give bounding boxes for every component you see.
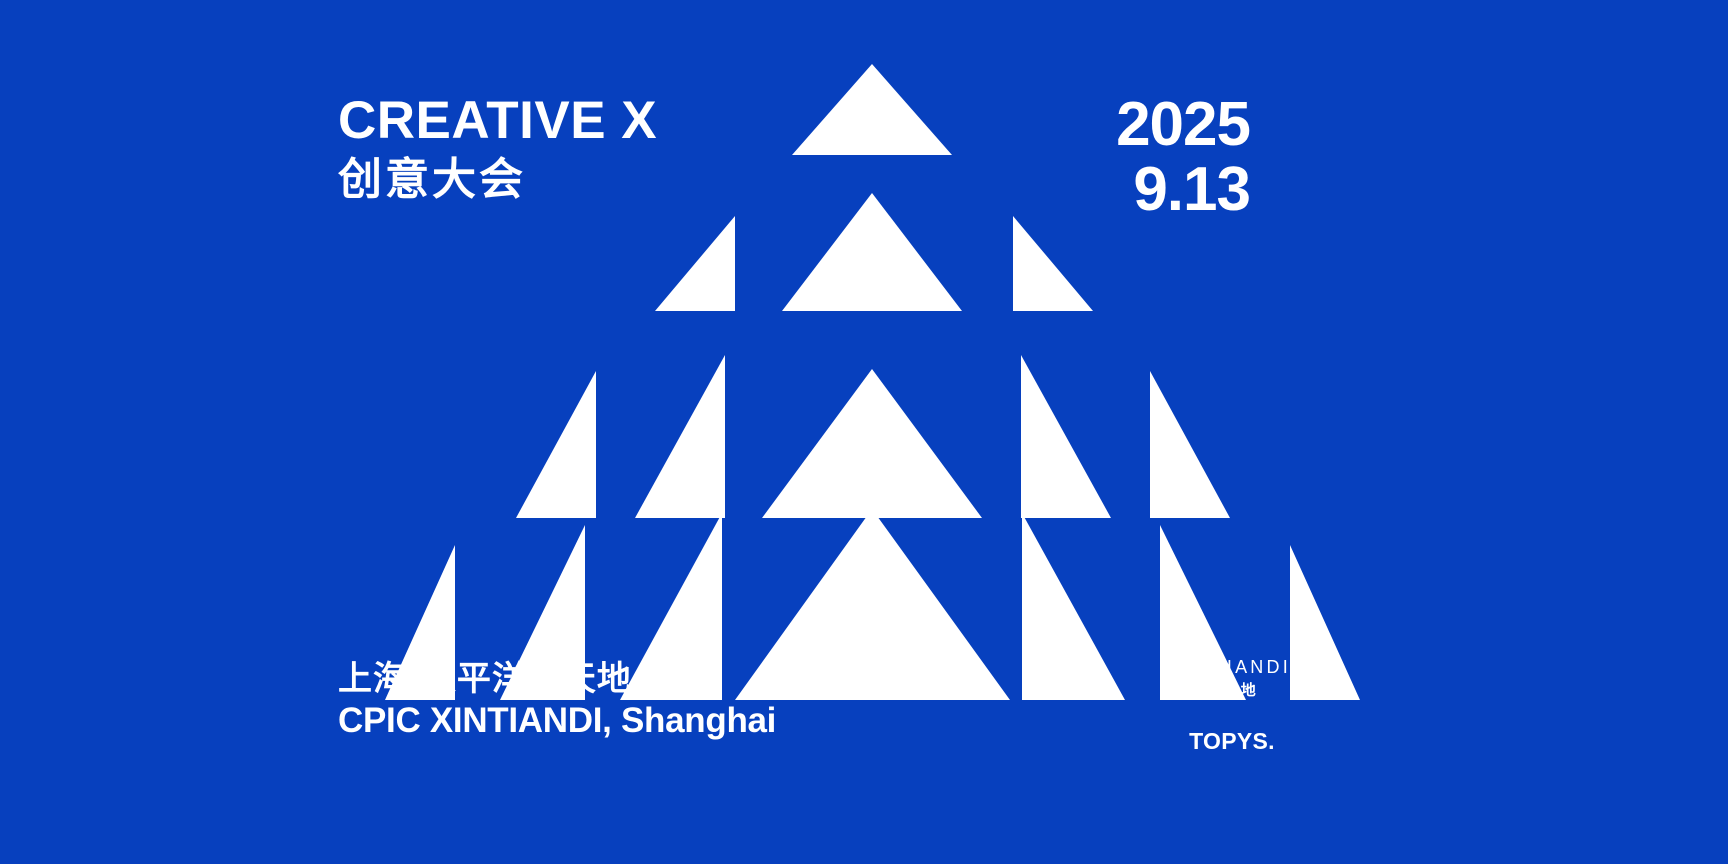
topys-logo: TOPYS. (1132, 729, 1332, 754)
event-year: 2025 (1116, 96, 1250, 155)
triangle-r3-c5 (1150, 371, 1230, 518)
triangle-r1-c1 (792, 64, 952, 155)
triangle-r3-c3 (762, 369, 982, 518)
triangle-r3-c2 (635, 355, 725, 518)
title-block: CREATIVE X 创意大会 (338, 94, 738, 202)
triangle-r3-c1 (516, 371, 596, 518)
triangle-r2-c1 (655, 216, 735, 311)
poster-canvas: CREATIVE X 创意大会 2025 9.13 上海·太平洋新天地 CPIC… (0, 0, 1728, 864)
triangle-pyramid-graphic (0, 0, 1728, 864)
venue-name-en: CPIC XINTIANDI, Shanghai (338, 702, 776, 741)
venue-name-cn: 上海·太平洋新天地 (338, 660, 776, 698)
event-day: 9.13 (1116, 161, 1250, 220)
xintiandi-logo-cn: 新天地 (1132, 681, 1332, 699)
triangle-r4-c4 (735, 509, 1010, 700)
triangle-r4-c5 (1022, 513, 1125, 700)
venue-block: 上海·太平洋新天地 CPIC XINTIANDI, Shanghai (338, 660, 776, 741)
page-title: CREATIVE X (338, 94, 738, 147)
logo-block: XINTIANDI 新天地 TOPYS. (1132, 658, 1332, 754)
triangle-r3-c4 (1021, 355, 1111, 518)
triangle-r2-c2 (782, 193, 962, 311)
page-subtitle-cn: 创意大会 (338, 158, 738, 202)
triangle-r2-c3 (1013, 216, 1093, 311)
date-block: 2025 9.13 (1116, 96, 1250, 220)
xintiandi-logo-en: XINTIANDI (1132, 658, 1332, 678)
